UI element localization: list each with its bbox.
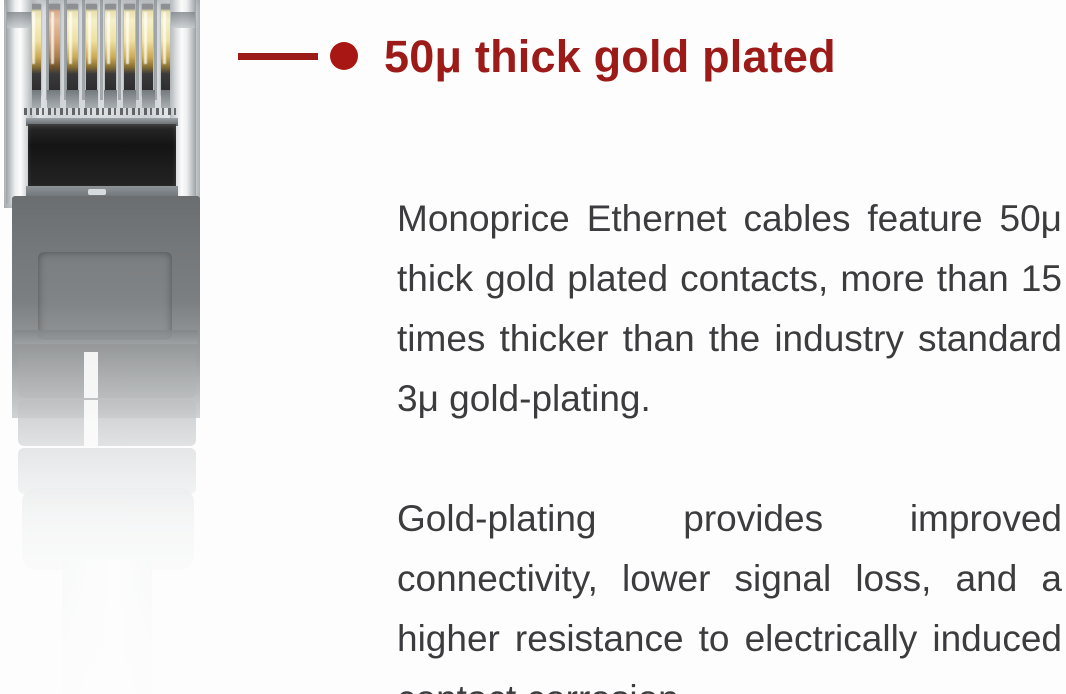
rj45-connector-photo [0,0,232,694]
boot-rib [18,400,196,446]
contact-pin [142,4,153,96]
boot-rib-slot [84,352,98,398]
contact-pin [86,4,97,96]
feature-paragraph-2: Gold-plating provides improved connectiv… [397,489,1062,694]
pin-pad [142,90,155,108]
feature-paragraph-1: Monoprice Ethernet cables feature 50μ th… [397,189,1062,429]
rail-notch [7,12,31,28]
callout-dot-icon [330,42,358,70]
cable-stem [62,560,152,694]
boot-shoulder [14,330,198,344]
pin-pad [85,90,98,108]
callout-heading-row: 50μ thick gold plated [238,28,836,84]
cable-collar [22,488,194,570]
contact-pin [105,4,116,96]
contact-pin [124,4,135,96]
pin-pad [104,90,117,108]
product-feature-graphic: 50μ thick gold plated Monoprice Ethernet… [0,0,1066,694]
callout-heading: 50μ thick gold plated [384,34,836,79]
boot-inset-panel [38,252,172,340]
boot-rib-slot [84,400,98,446]
contact-pin [49,4,60,96]
pin-pad [66,90,79,108]
rail-notch [171,12,195,28]
boot-rib [18,352,196,398]
pin-base-pads [28,90,174,108]
feature-text-column: 50μ thick gold plated Monoprice Ethernet… [238,0,1066,694]
pin-pad [123,90,136,108]
contact-pin [67,4,78,96]
pin-pad [47,90,60,108]
callout-leader-line-icon [238,53,318,60]
cable-jacket-window [28,124,176,186]
connector-print-strip [24,108,176,115]
gold-contact-pins [30,4,172,96]
